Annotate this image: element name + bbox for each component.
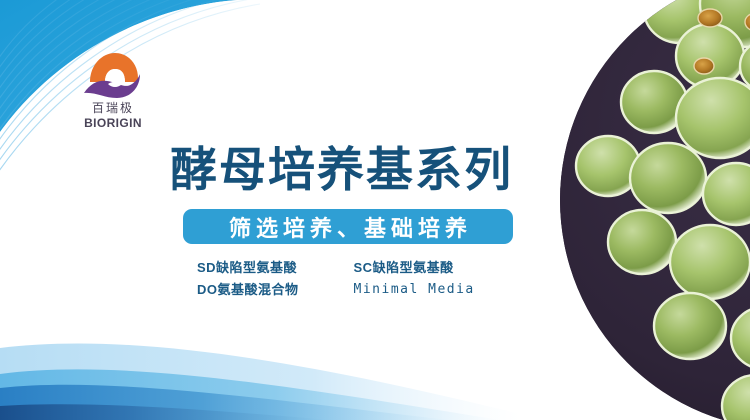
product-item: DO氨基酸混合物 — [197, 281, 299, 299]
biorigin-logo-mark — [82, 48, 144, 100]
product-item: SD缺陷型氨基酸 — [197, 259, 299, 277]
yeast-cells-micrograph — [560, 0, 750, 420]
bottom-blue-waves — [0, 330, 520, 420]
page-title: 酵母培养基系列 — [170, 145, 513, 194]
subtitle-text: 筛选培养、基础培养 — [224, 211, 472, 243]
product-banner: 百瑞极 BIORIGIN 酵母培养基系列 筛选培养、基础培养 SD缺陷型氨基酸 … — [0, 0, 750, 420]
logo-name-en: BIORIGIN — [68, 116, 158, 130]
product-column-left: SD缺陷型氨基酸 DO氨基酸混合物 — [197, 259, 299, 298]
product-list: SD缺陷型氨基酸 DO氨基酸混合物 SC缺陷型氨基酸 Minimal Media — [197, 259, 475, 298]
product-item: Minimal Media — [354, 281, 475, 299]
product-column-right: SC缺陷型氨基酸 Minimal Media — [354, 259, 475, 298]
product-item: SC缺陷型氨基酸 — [354, 259, 475, 277]
brand-logo[interactable]: 百瑞极 BIORIGIN — [68, 48, 158, 130]
logo-name-cn: 百瑞极 — [68, 101, 158, 116]
subtitle-badge: 筛选培养、基础培养 — [183, 209, 513, 244]
yeast-photo-svg — [560, 0, 750, 420]
